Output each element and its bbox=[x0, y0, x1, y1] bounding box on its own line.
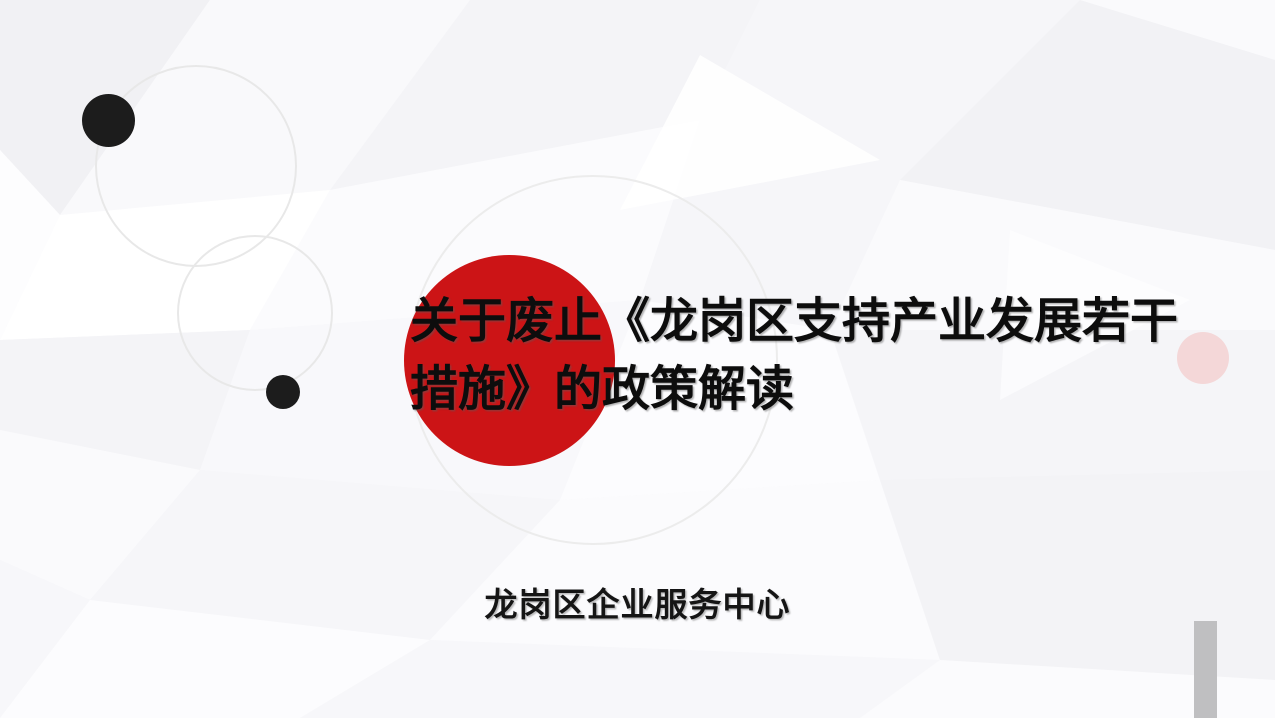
dark-dot-large bbox=[82, 94, 135, 147]
page-subtitle: 龙岗区企业服务中心 bbox=[0, 578, 1275, 626]
page-title: 关于废止《龙岗区支持产业发展若干措施》的政策解读 bbox=[410, 288, 1200, 424]
title-slide: 关于废止《龙岗区支持产业发展若干措施》的政策解读 龙岗区企业服务中心 bbox=[0, 0, 1275, 718]
outline-ring-lower bbox=[177, 235, 333, 391]
dark-dot-small bbox=[266, 375, 300, 409]
gray-accent-bar bbox=[1194, 621, 1217, 718]
